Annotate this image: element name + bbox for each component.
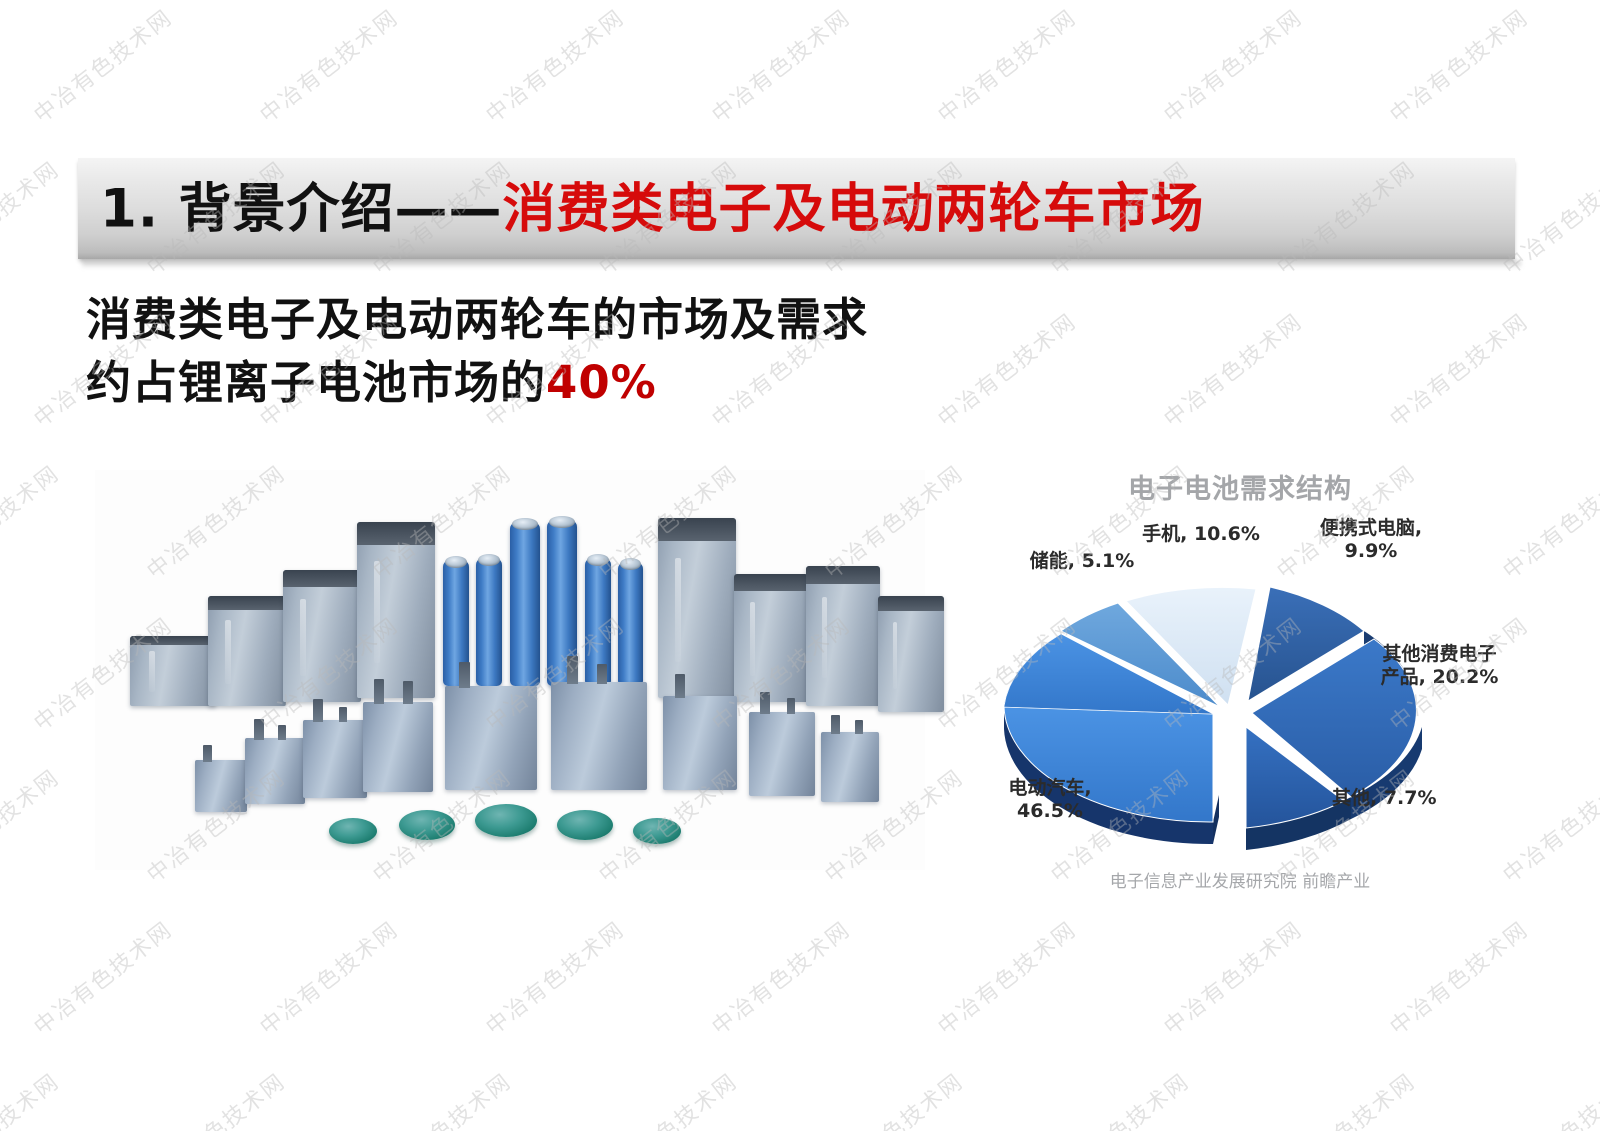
watermark-text: 中冶有色技术网 (930, 1, 1082, 130)
pouch-tab (459, 662, 470, 688)
cylindrical-cell (476, 558, 502, 686)
pie-label-ev: 电动汽车, 46.5% (980, 777, 1120, 823)
pouch-tab (278, 725, 286, 740)
watermark-text: 中冶有色技术网 (26, 913, 178, 1042)
pie-label-other-ce-line1: 其他消费电子 (1352, 643, 1527, 666)
prismatic-cell (357, 522, 435, 698)
pouch-tab (203, 745, 212, 762)
pouch-cell (551, 682, 647, 790)
watermark-text: 中冶有色技术网 (252, 913, 404, 1042)
body-paragraph: 消费类电子及电动两轮车的市场及需求 约占锂离子电池市场的40% (86, 288, 868, 414)
watermark-text: 中冶有色技术网 (1495, 1065, 1600, 1131)
pie-label-laptop-line2: 9.9% (1276, 540, 1466, 563)
chart-source-note: 电子信息产业发展研究院 前瞻产业 (960, 867, 1520, 892)
pouch-cell (821, 732, 879, 802)
body-line-2-text: 约占锂离子电池市场的 (86, 356, 546, 409)
pouch-cell (363, 702, 433, 792)
prismatic-cell (806, 566, 880, 706)
watermark-text: 中冶有色技术网 (1156, 1, 1308, 130)
battery-product-photo (95, 470, 925, 870)
watermark-text: 中冶有色技术网 (365, 1065, 517, 1131)
slide-canvas: 1. 背景介绍——消费类电子及电动两轮车市场 消费类电子及电动两轮车的市场及需求… (0, 0, 1600, 1131)
watermark-text: 中冶有色技术网 (0, 761, 65, 890)
pouch-cell (663, 696, 737, 790)
watermark-text: 中冶有色技术网 (252, 1, 404, 130)
pouch-tab (339, 707, 347, 722)
prismatic-cell (658, 518, 736, 698)
watermark-text: 中冶有色技术网 (930, 305, 1082, 434)
body-line-1: 消费类电子及电动两轮车的市场及需求 (86, 288, 868, 351)
coin-cell (475, 804, 537, 837)
watermark-text: 中冶有色技术网 (139, 1065, 291, 1131)
prismatic-cell (208, 596, 286, 706)
pouch-tab (597, 664, 607, 684)
prismatic-cell (130, 636, 216, 706)
title-prefix: 1. 背景介绍—— (100, 178, 502, 239)
watermark-text: 中冶有色技术网 (930, 913, 1082, 1042)
pouch-tab (313, 699, 323, 722)
watermark-text: 中冶有色技术网 (1156, 305, 1308, 434)
pie-label-other-ce: 其他消费电子 产品, 20.2% (1352, 643, 1527, 689)
pouch-tab (374, 679, 384, 704)
coin-cell (399, 810, 455, 840)
body-percent-highlight: 40% (546, 356, 657, 409)
pouch-tab (787, 698, 795, 714)
watermark-text: 中冶有色技术网 (817, 1065, 969, 1131)
pouch-tab (403, 681, 413, 704)
pie-label-ess: 储能, 5.1% (1012, 550, 1152, 573)
pie-label-ev-line1: 电动汽车, (980, 777, 1120, 800)
battery-demand-pie-chart: 电子电池需求结构 (960, 455, 1520, 900)
pouch-tab (567, 656, 578, 684)
watermark-text: 中冶有色技术网 (591, 1065, 743, 1131)
watermark-text: 中冶有色技术网 (704, 1, 856, 130)
coin-cell (633, 818, 681, 844)
watermark-text: 中冶有色技术网 (478, 1, 630, 130)
cylindrical-cell (510, 522, 540, 686)
watermark-text: 中冶有色技术网 (0, 153, 65, 282)
pouch-cell (445, 686, 537, 790)
pie-label-other-ce-line2: 产品, 20.2% (1352, 666, 1527, 689)
title-highlight: 消费类电子及电动两轮车市场 (502, 178, 1204, 239)
watermark-text: 中冶有色技术网 (478, 913, 630, 1042)
watermark-text: 中冶有色技术网 (1382, 1, 1534, 130)
watermark-text: 中冶有色技术网 (1043, 1065, 1195, 1131)
pouch-tab (254, 719, 264, 740)
pouch-cell (303, 720, 367, 798)
pie-label-laptop-line1: 便携式电脑, (1276, 517, 1466, 540)
pie-label-phone: 手机, 10.6% (1116, 523, 1286, 546)
watermark-text: 中冶有色技术网 (1382, 913, 1534, 1042)
watermark-text: 中冶有色技术网 (1382, 305, 1534, 434)
watermark-text: 中冶有色技术网 (0, 1065, 65, 1131)
prismatic-cell (734, 574, 808, 702)
pie-label-other: 其他, 7.7% (1332, 787, 1502, 810)
pouch-tab (675, 674, 685, 698)
pouch-tab (831, 715, 840, 734)
pie-label-laptop: 便携式电脑, 9.9% (1276, 517, 1466, 563)
pouch-cell (245, 738, 305, 804)
prismatic-cell (878, 596, 944, 712)
pouch-tab (760, 692, 770, 714)
prismatic-cell (283, 570, 361, 702)
coin-cell (329, 818, 377, 844)
watermark-text: 中冶有色技术网 (1156, 913, 1308, 1042)
watermark-text: 中冶有色技术网 (704, 913, 856, 1042)
slide-title-band: 1. 背景介绍——消费类电子及电动两轮车市场 (78, 158, 1515, 259)
watermark-text: 中冶有色技术网 (26, 1, 178, 130)
watermark-text: 中冶有色技术网 (1269, 1065, 1421, 1131)
cylindrical-cell (618, 562, 643, 686)
pie-label-ev-line2: 46.5% (980, 800, 1120, 823)
page-title: 1. 背景介绍——消费类电子及电动两轮车市场 (100, 182, 1204, 235)
body-line-2: 约占锂离子电池市场的40% (86, 351, 868, 414)
watermark-text: 中冶有色技术网 (0, 457, 65, 586)
pouch-cell (195, 760, 247, 812)
pouch-cell (749, 712, 815, 796)
pouch-tab (855, 720, 863, 734)
coin-cell (557, 810, 613, 840)
